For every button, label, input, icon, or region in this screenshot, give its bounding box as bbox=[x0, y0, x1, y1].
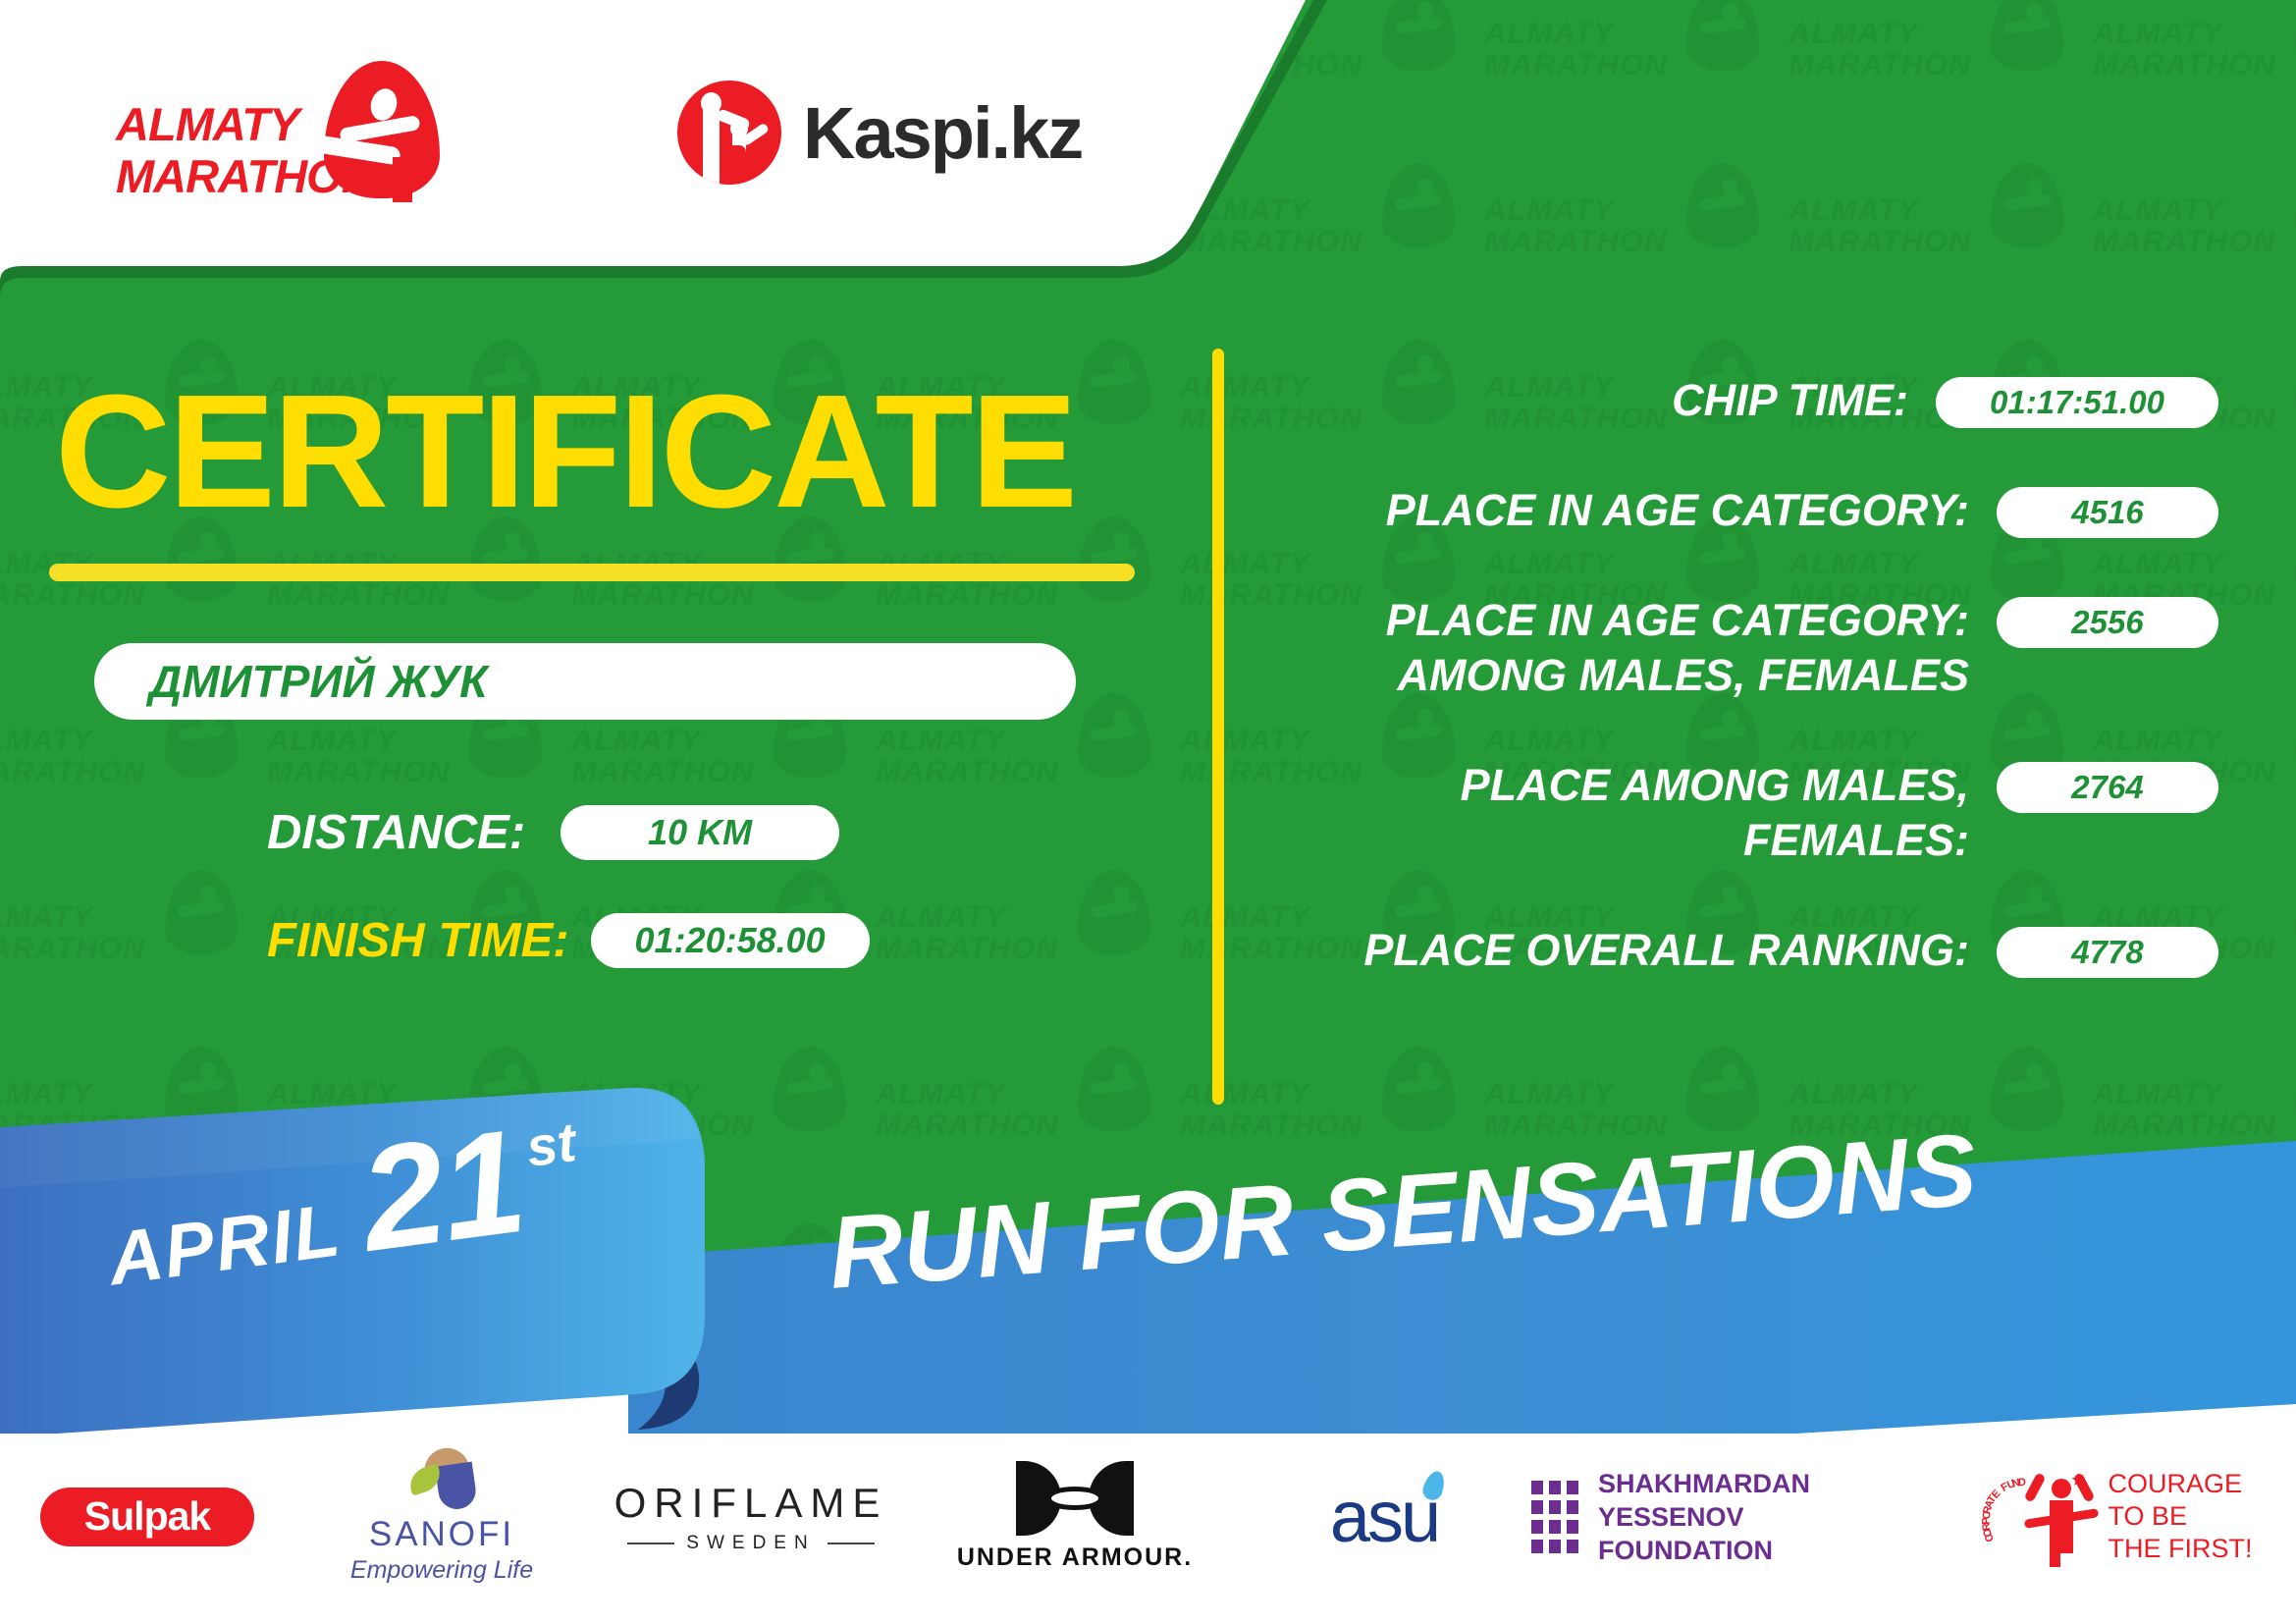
kaspi-wordmark: Kaspi.kz bbox=[803, 91, 1082, 175]
watermark-drop-icon bbox=[1078, 340, 1150, 424]
sponsor-sanofi[interactable]: SANOFI Empowering Life bbox=[294, 1438, 589, 1596]
sponsor-logo-strip: Sulpak SANOFI Empowering Life ORIFLAME S… bbox=[0, 1426, 2296, 1607]
watermark-text: ALMATYMARATHON bbox=[2093, 194, 2276, 257]
watermark-text: ALMATYMARATHON bbox=[1789, 194, 1972, 257]
bar bbox=[1567, 1520, 1578, 1534]
sanofi-blue-shape bbox=[435, 1462, 478, 1512]
watermark-tile: ALMATYMARATHON bbox=[874, 864, 1168, 1036]
watermark-text: ALMATYMARATHON bbox=[1484, 18, 1668, 81]
finish-time-value: 01:20:58.00 bbox=[591, 913, 870, 968]
sponsor-asu[interactable]: asu bbox=[1237, 1438, 1531, 1596]
watermark-tile: ALMATYMARATHON bbox=[1482, 157, 1777, 329]
bar bbox=[1567, 1481, 1578, 1494]
stat-row-place-age-category: PLACE IN AGE CATEGORY: 4516 bbox=[1276, 483, 2218, 538]
participant-name-value: ДМИТРИЙ ЖУК bbox=[94, 655, 487, 708]
sanofi-wordmark: SANOFI bbox=[369, 1515, 514, 1554]
stat-row-place-overall-ranking: PLACE OVERALL RANKING: 4778 bbox=[1276, 923, 2218, 978]
courage-head bbox=[2052, 1479, 2071, 1498]
asu-logo: asu bbox=[1330, 1475, 1438, 1558]
under-armour-icon bbox=[1016, 1461, 1134, 1536]
certificate-page: ALMATYMARATHONALMATYMARATHONALMATYMARATH… bbox=[0, 0, 2296, 1624]
watermark-text: ALMATYMARATHON bbox=[876, 901, 1059, 964]
watermark-tile: ALMATYMARATHON bbox=[2091, 157, 2296, 329]
sulpak-wordmark: Sulpak bbox=[40, 1488, 254, 1546]
bar bbox=[1531, 1500, 1543, 1514]
watermark-text: ALMATYMARATHON bbox=[267, 725, 451, 787]
distance-value: 10 KM bbox=[561, 805, 839, 860]
place-among-males-females-value: 2764 bbox=[1997, 762, 2218, 813]
participant-name-field: ДМИТРИЙ ЖУК bbox=[94, 643, 1076, 720]
watermark-drop-icon bbox=[1686, 163, 1759, 247]
watermark-text: ALMATYMARATHON bbox=[0, 725, 146, 787]
watermark-text: ALMATYMARATHON bbox=[571, 725, 755, 787]
place-age-category-among-value: 2556 bbox=[1997, 597, 2218, 648]
courage-line1: COURAGE bbox=[2109, 1468, 2253, 1500]
courage-line3: THE FIRST! bbox=[2109, 1533, 2253, 1565]
kaspi-circle-icon bbox=[677, 81, 781, 185]
yessenov-bars-icon bbox=[1531, 1481, 1578, 1553]
oriflame-wordmark: ORIFLAME bbox=[614, 1480, 888, 1527]
oriflame-rule-left bbox=[627, 1543, 674, 1544]
watermark-text: ALMATYMARATHON bbox=[876, 725, 1059, 787]
courage-leg bbox=[2050, 1545, 2060, 1567]
event-day-suffix: st bbox=[522, 1110, 579, 1179]
almaty-marathon-drop-icon bbox=[324, 61, 440, 198]
watermark-drop-icon bbox=[165, 870, 238, 954]
chip-time-value: 01:17:51.00 bbox=[1936, 377, 2218, 428]
sponsor-oriflame[interactable]: ORIFLAME SWEDEN bbox=[589, 1438, 913, 1596]
chip-time-label: CHIP TIME: bbox=[1276, 373, 1908, 428]
courage-wordmark: COURAGE TO BE THE FIRST! bbox=[2109, 1468, 2253, 1565]
kaspi-logo[interactable]: Kaspi.kz bbox=[677, 69, 1090, 196]
watermark-tile: ALMATYMARATHON bbox=[0, 864, 255, 1036]
bar bbox=[1549, 1500, 1561, 1514]
kaspi-adult-body bbox=[703, 98, 720, 185]
watermark-drop-icon bbox=[1686, 0, 1759, 71]
bar bbox=[1549, 1520, 1561, 1534]
almaty-logo-line2: MARATHON bbox=[116, 150, 322, 202]
watermark-text: ALMATYMARATHON bbox=[1484, 194, 1668, 257]
finish-time-row: FINISH TIME: 01:20:58.00 bbox=[267, 913, 870, 968]
watermark-tile: ALMATYMARATHON bbox=[1787, 0, 2081, 152]
place-age-category-label: PLACE IN AGE CATEGORY: bbox=[1276, 483, 1969, 538]
watermark-drop-icon bbox=[1382, 163, 1455, 247]
bar bbox=[1549, 1540, 1561, 1553]
event-day: 21 bbox=[354, 1116, 529, 1264]
bar bbox=[1531, 1540, 1543, 1553]
header-logos: ALMATY MARATHON Kaspi.kz bbox=[0, 0, 1266, 267]
stat-row-place-among-males-females: PLACE AMONG MALES, FEMALES: 2764 bbox=[1276, 758, 2218, 868]
ua-center-hole bbox=[1051, 1491, 1098, 1505]
title-underline-rule bbox=[49, 564, 1135, 581]
sponsor-yessenov-foundation[interactable]: SHAKHMARDAN YESSENOV FOUNDATION bbox=[1531, 1438, 1953, 1596]
stat-row-place-age-category-among: PLACE IN AGE CATEGORY: AMONG MALES, FEMA… bbox=[1276, 593, 2218, 703]
event-ribbon-banner: APRIL 21 st RUN FOR SENSATIONS bbox=[0, 1080, 2296, 1434]
watermark-drop-icon bbox=[1991, 163, 2063, 247]
place-overall-ranking-value: 4778 bbox=[1997, 927, 2218, 978]
bar bbox=[1531, 1481, 1543, 1494]
bar bbox=[1567, 1540, 1578, 1553]
yessenov-line2: FOUNDATION bbox=[1598, 1534, 1953, 1567]
watermark-tile: ALMATYMARATHON bbox=[2091, 0, 2296, 152]
courage-line2: TO BE bbox=[2109, 1500, 2253, 1533]
column-divider bbox=[1212, 349, 1224, 1105]
courage-figure-icon: ★ bbox=[2032, 1471, 2089, 1563]
distance-row: DISTANCE: 10 KM bbox=[267, 805, 839, 860]
sanofi-icon bbox=[406, 1448, 477, 1509]
watermark-text: ALMATYMARATHON bbox=[2093, 18, 2276, 81]
runner-leg2-shape bbox=[393, 157, 412, 202]
sponsor-under-armour[interactable]: UNDER ARMOUR. bbox=[913, 1438, 1237, 1596]
watermark-text: ALMATYMARATHON bbox=[1789, 18, 1972, 81]
distance-label: DISTANCE: bbox=[267, 805, 525, 860]
watermark-drop-icon bbox=[1078, 870, 1150, 954]
page-title: CERTIFICATE bbox=[55, 371, 1075, 532]
courage-icon: CORPORATE FUND ★ bbox=[1989, 1465, 2095, 1569]
almaty-marathon-logo[interactable]: ALMATY MARATHON bbox=[116, 61, 440, 208]
bar bbox=[1567, 1500, 1578, 1514]
sponsor-courage-to-be-first[interactable]: CORPORATE FUND ★ COURAGE TO BE THE FIRST… bbox=[1953, 1438, 2287, 1596]
sponsor-sulpak[interactable]: Sulpak bbox=[0, 1438, 294, 1596]
results-stats-list: CHIP TIME: 01:17:51.00 PLACE IN AGE CATE… bbox=[1276, 373, 2218, 1033]
oriflame-subline: SWEDEN bbox=[589, 1533, 913, 1554]
yessenov-line1: SHAKHMARDAN YESSENOV bbox=[1598, 1467, 1953, 1534]
place-overall-ranking-label: PLACE OVERALL RANKING: bbox=[1276, 923, 1969, 978]
sanofi-tagline: Empowering Life bbox=[350, 1556, 533, 1585]
finish-time-label: FINISH TIME: bbox=[267, 913, 569, 968]
arc-letter: D bbox=[2017, 1476, 2026, 1489]
almaty-logo-line1: ALMATY bbox=[116, 98, 322, 150]
watermark-text: ALMATYMARATHON bbox=[0, 901, 146, 964]
watermark-drop-icon bbox=[1991, 0, 2063, 71]
bar bbox=[1549, 1481, 1561, 1494]
watermark-drop-icon bbox=[1078, 516, 1150, 601]
watermark-drop-icon bbox=[1078, 693, 1150, 778]
watermark-drop-icon bbox=[1382, 0, 1455, 71]
watermark-tile: ALMATYMARATHON bbox=[1787, 157, 2081, 329]
bar bbox=[1531, 1520, 1543, 1534]
under-armour-wordmark: UNDER ARMOUR. bbox=[957, 1543, 1193, 1572]
place-age-category-among-label: PLACE IN AGE CATEGORY: AMONG MALES, FEMA… bbox=[1276, 593, 1969, 703]
place-among-males-females-label: PLACE AMONG MALES, FEMALES: bbox=[1276, 758, 1969, 868]
stat-row-chip-time: CHIP TIME: 01:17:51.00 bbox=[1276, 373, 2218, 428]
kaspi-center-shape bbox=[721, 145, 746, 185]
oriflame-rule-right bbox=[828, 1543, 875, 1544]
yessenov-wordmark: SHAKHMARDAN YESSENOV FOUNDATION bbox=[1598, 1467, 1953, 1567]
oriflame-tagline: SWEDEN bbox=[686, 1533, 815, 1554]
place-age-category-value: 4516 bbox=[1997, 487, 2218, 538]
watermark-tile: ALMATYMARATHON bbox=[1482, 0, 1777, 152]
